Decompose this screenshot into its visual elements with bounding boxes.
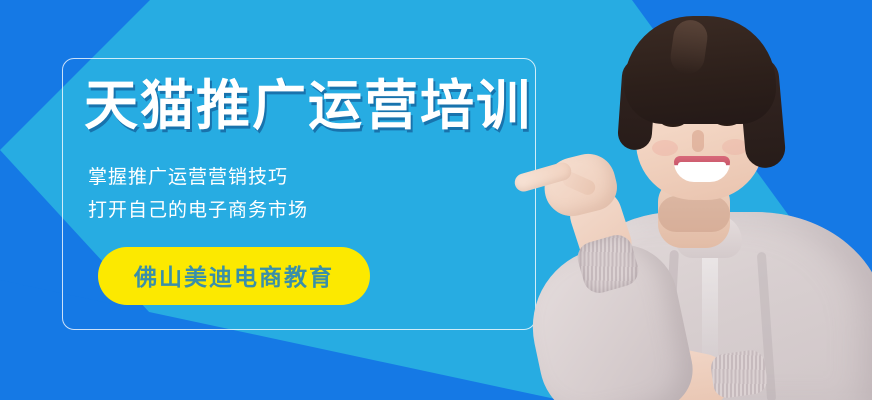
presenter-figure — [516, 0, 872, 400]
banner-copy: 天猫推广运营培训 掌握推广运营营销技巧 打开自己的电子商务市场 佛山美迪电商教育 — [84, 78, 524, 305]
banner-subtitle-line-2: 打开自己的电子商务市场 — [88, 194, 524, 227]
promo-banner: 天猫推广运营培训 掌握推广运营营销技巧 打开自己的电子商务市场 佛山美迪电商教育 — [0, 0, 872, 400]
cuff-right — [709, 348, 769, 399]
brand-cta-button[interactable]: 佛山美迪电商教育 — [98, 247, 370, 305]
cheek-left — [652, 140, 678, 156]
teeth — [678, 162, 726, 175]
banner-headline: 天猫推广运营培训 — [84, 78, 524, 135]
banner-subtitles: 掌握推广运营营销技巧 打开自己的电子商务市场 — [88, 161, 524, 228]
neck-shadow — [658, 196, 730, 232]
banner-subtitle-line-1: 掌握推广运营营销技巧 — [88, 161, 524, 194]
nose — [692, 130, 704, 152]
